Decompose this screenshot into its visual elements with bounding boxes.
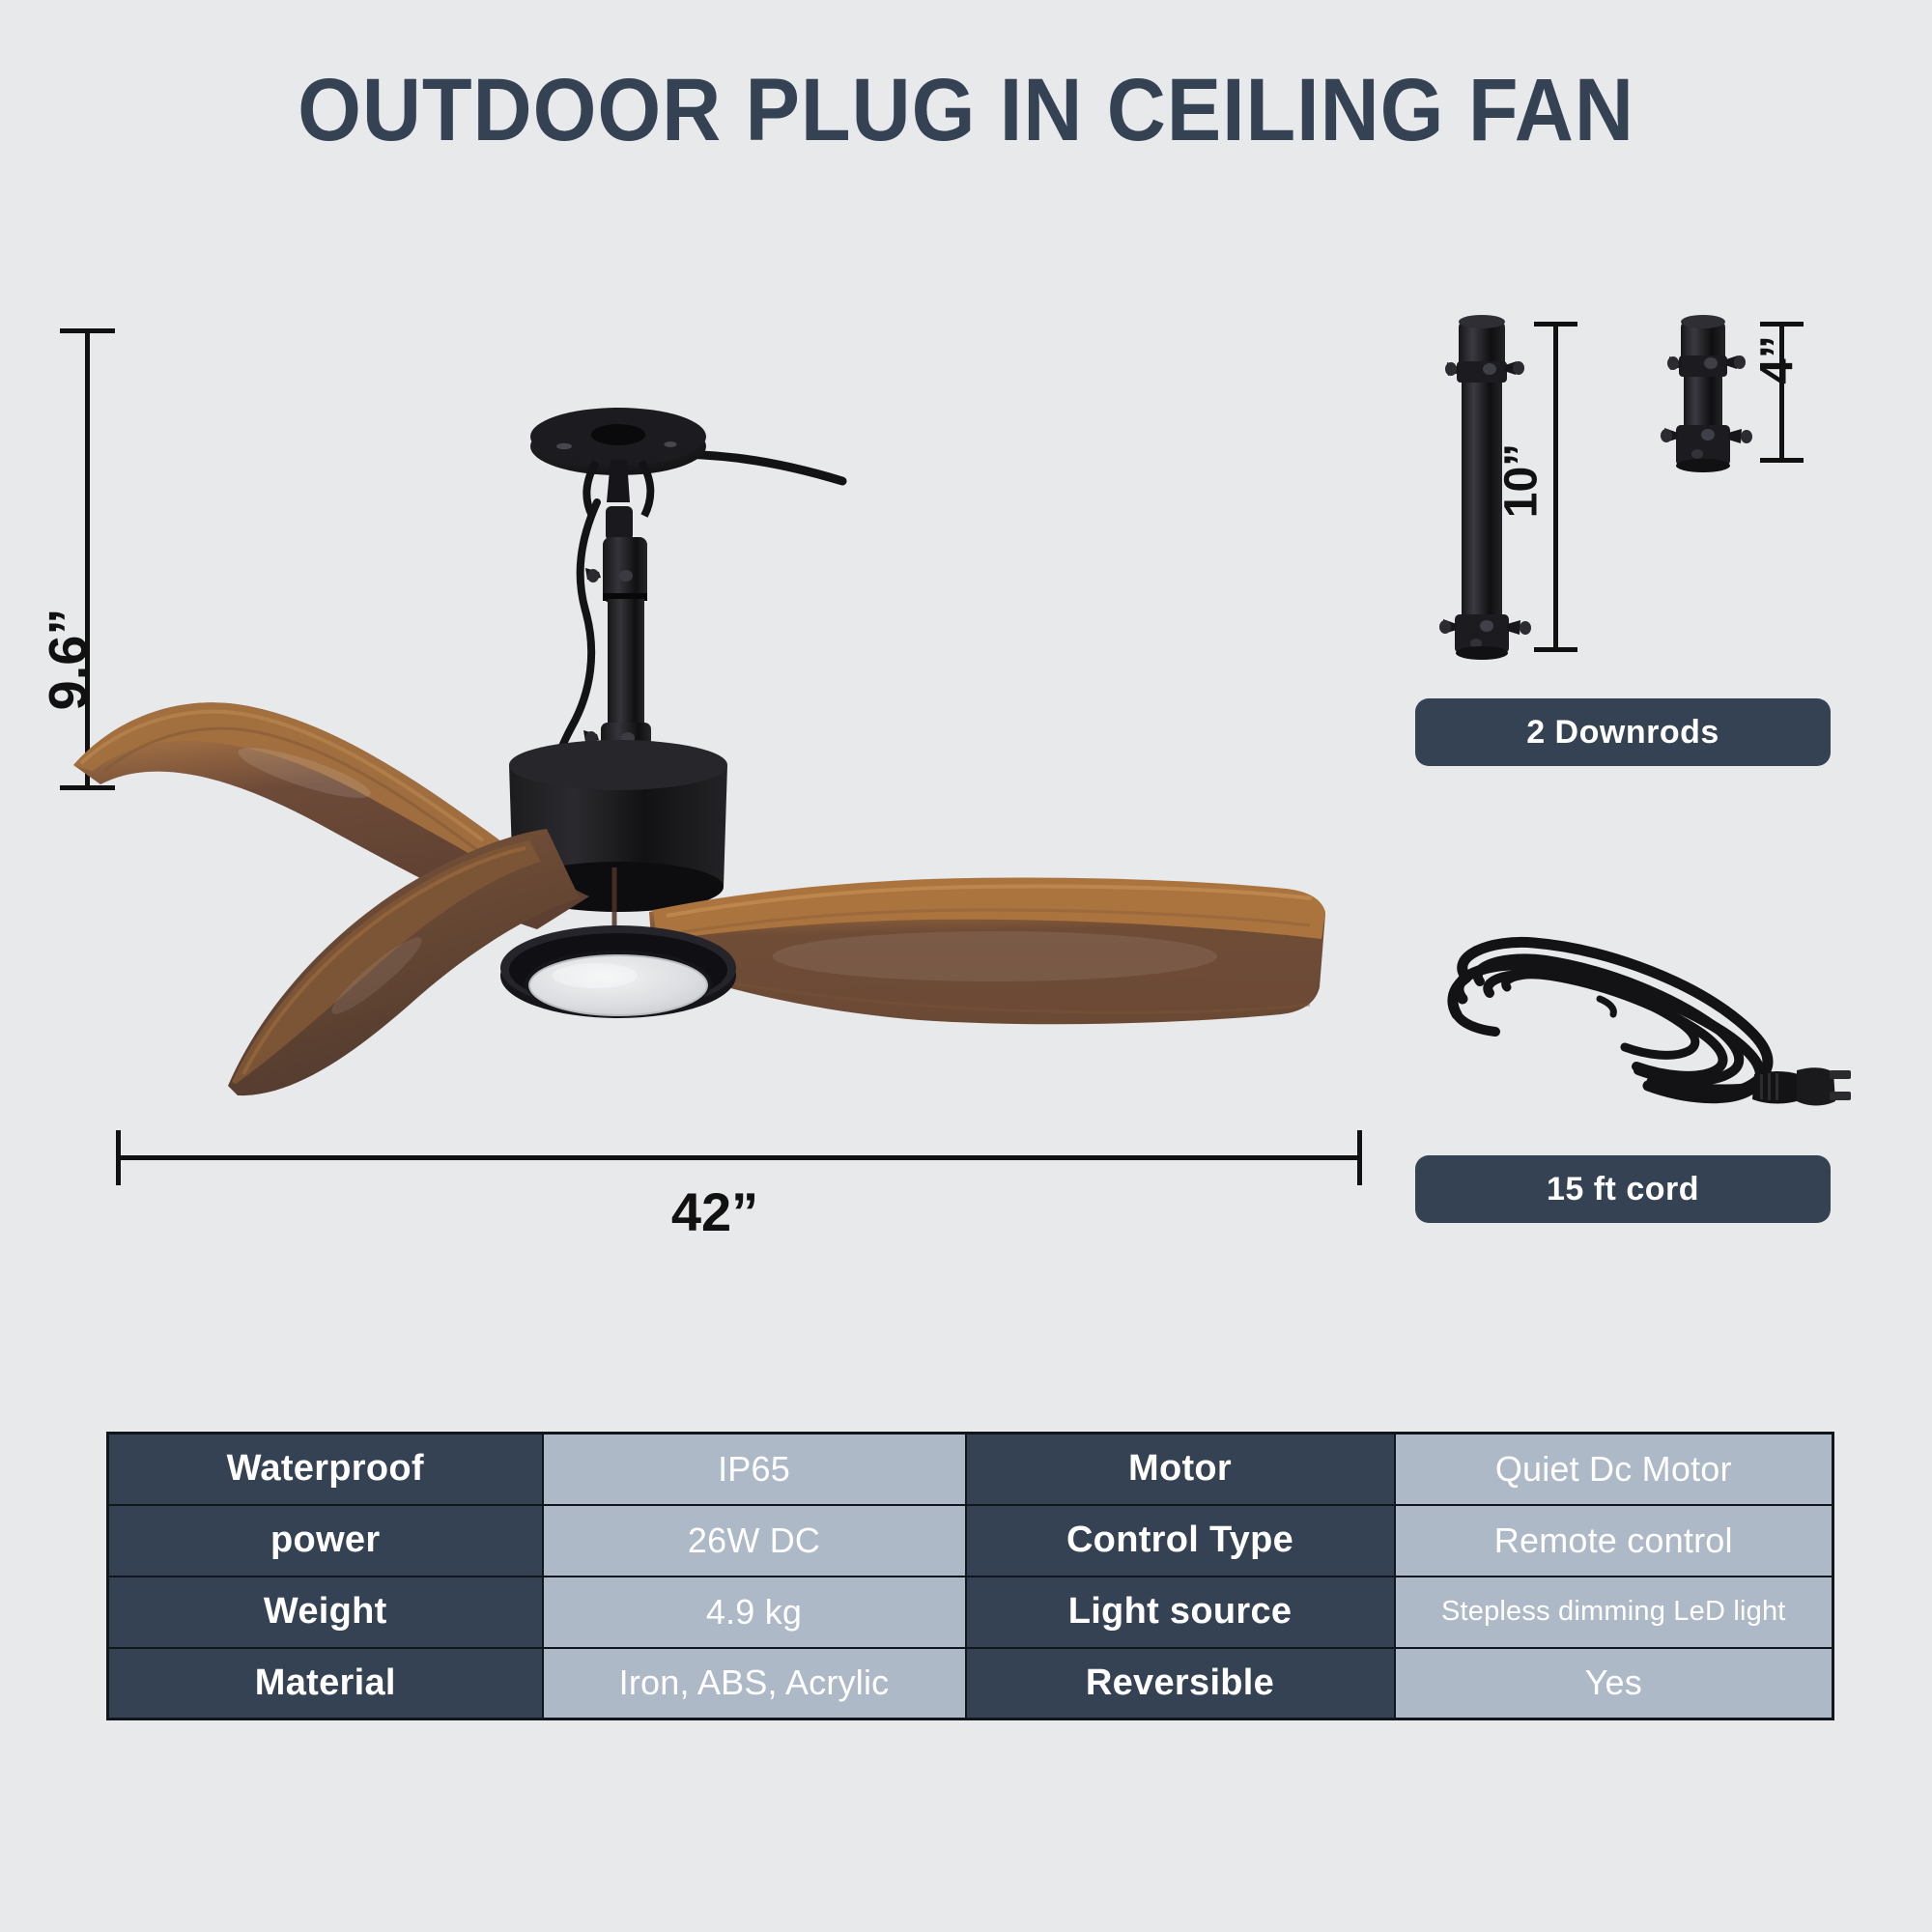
table-row: Material Iron, ABS, Acrylic Reversible Y… (108, 1648, 1833, 1719)
spec-value: Stepless dimming LeD light (1395, 1577, 1833, 1648)
downrod-10in-label: 10” (1495, 399, 1548, 563)
spec-value: Iron, ABS, Acrylic (543, 1648, 966, 1719)
spec-key: Light source (966, 1577, 1395, 1648)
spec-key: power (108, 1505, 543, 1577)
infographic-page: OUTDOOR PLUG IN CEILING FAN 9.6” 42” (0, 0, 1932, 1932)
spec-key: Control Type (966, 1505, 1395, 1577)
table-row: power 26W DC Control Type Remote control (108, 1505, 1833, 1577)
downrods-badge-label: 2 Downrods (1526, 714, 1719, 752)
table-row: Weight 4.9 kg Light source Stepless dimm… (108, 1577, 1833, 1648)
cord-badge-label: 15 ft cord (1547, 1171, 1699, 1208)
spec-key: Waterproof (108, 1434, 543, 1505)
spec-value: Quiet Dc Motor (1395, 1434, 1833, 1505)
specification-table: Waterproof IP65 Motor Quiet Dc Motor pow… (106, 1432, 1834, 1720)
spec-value: Remote control (1395, 1505, 1833, 1577)
power-cord-illustration (1420, 918, 1855, 1130)
ceiling-fan-illustration (0, 0, 1372, 1256)
spec-value: 26W DC (543, 1505, 966, 1577)
spec-value: IP65 (543, 1434, 966, 1505)
cord-badge: 15 ft cord (1415, 1155, 1831, 1223)
spec-value: 4.9 kg (543, 1577, 966, 1648)
spec-key: Weight (108, 1577, 543, 1648)
table-row: Waterproof IP65 Motor Quiet Dc Motor (108, 1434, 1833, 1505)
spec-key: Material (108, 1648, 543, 1719)
spec-value: Yes (1395, 1648, 1833, 1719)
spec-key: Reversible (966, 1648, 1395, 1719)
downrods-badge: 2 Downrods (1415, 698, 1831, 766)
spec-key: Motor (966, 1434, 1395, 1505)
downrod-4in-label: 4” (1751, 288, 1804, 433)
